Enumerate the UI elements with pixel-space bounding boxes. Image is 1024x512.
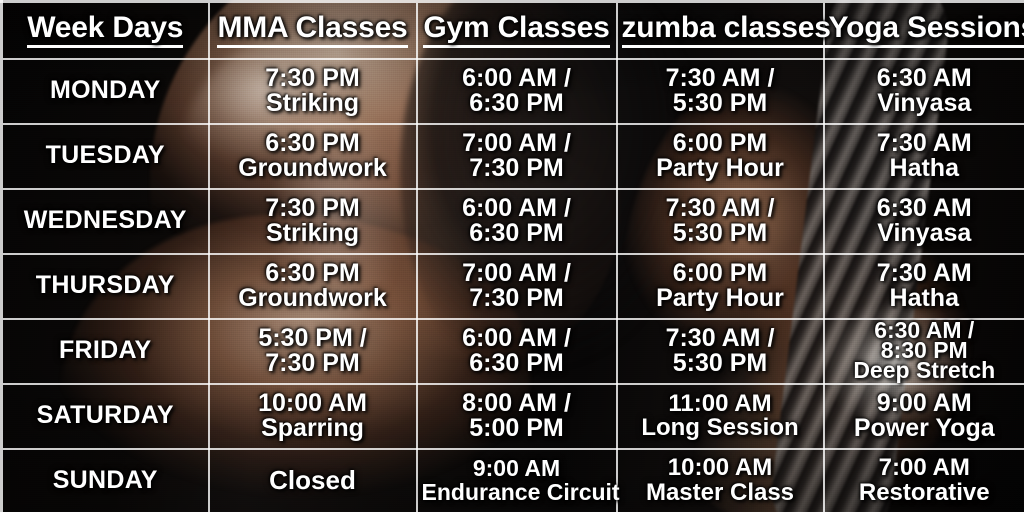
header-yoga-sessions: Yoga Sessions <box>824 2 1024 59</box>
cell-line: 7:00 AM / <box>422 131 612 157</box>
cell-line: 9:00 AM <box>829 391 1021 417</box>
day-label-friday: FRIDAY <box>2 319 209 384</box>
cell-line: Hatha <box>829 156 1021 182</box>
cell-yoga-sunday: 7:00 AMRestorative <box>824 449 1024 512</box>
cell-gym-saturday: 8:00 AM /5:00 PM <box>417 384 617 449</box>
header-yoga-sessions-label: Yoga Sessions <box>829 13 1024 48</box>
cell-yoga-saturday: 9:00 AMPower Yoga <box>824 384 1024 449</box>
cell-line: 7:30 PM <box>422 156 612 182</box>
day-label-tuesday: TUESDAY <box>2 124 209 189</box>
cell-zumba-saturday: 11:00 AMLong Session <box>617 384 824 449</box>
cell-line: Deep Stretch <box>829 361 1021 381</box>
cell-line: Party Hour <box>622 156 819 182</box>
cell-line: 6:30 AM <box>829 66 1021 92</box>
day-label-sunday: SUNDAY <box>2 449 209 512</box>
day-label-monday: MONDAY <box>2 59 209 124</box>
cell-line: 5:00 PM <box>422 416 612 442</box>
cell-mma-monday: 7:30 PMStriking <box>209 59 417 124</box>
cell-line: 7:00 AM / <box>422 261 612 287</box>
header-week-days: Week Days <box>2 2 209 59</box>
cell-line: Restorative <box>829 481 1021 505</box>
cell-line: 6:00 AM / <box>422 196 612 222</box>
cell-line: 5:30 PM <box>622 221 819 247</box>
cell-gym-tuesday: 7:00 AM /7:30 PM <box>417 124 617 189</box>
cell-gym-wednesday: 6:00 AM /6:30 PM <box>417 189 617 254</box>
cell-line: 7:30 AM / <box>622 326 819 352</box>
cell-line: Closed <box>214 467 412 494</box>
header-gym-classes: Gym Classes <box>417 2 617 59</box>
cell-zumba-thursday: 6:00 PMParty Hour <box>617 254 824 319</box>
day-label-wednesday: WEDNESDAY <box>2 189 209 254</box>
class-schedule-table: Week Days MMA Classes Gym Classes zumba … <box>0 0 1024 512</box>
cell-line: 7:30 AM <box>829 261 1021 287</box>
cell-line: 10:00 AM <box>214 391 412 417</box>
table-row: WEDNESDAY7:30 PMStriking6:00 AM /6:30 PM… <box>2 189 1024 254</box>
cell-line: Party Hour <box>622 286 819 312</box>
cell-line: Vinyasa <box>829 91 1021 117</box>
table-row: THURSDAY6:30 PMGroundwork7:00 AM /7:30 P… <box>2 254 1024 319</box>
cell-line: 11:00 AM <box>622 392 819 416</box>
cell-line: 7:30 PM <box>214 196 412 222</box>
cell-line: 7:30 AM <box>829 131 1021 157</box>
table-row: SATURDAY10:00 AMSparring8:00 AM /5:00 PM… <box>2 384 1024 449</box>
cell-line: 6:00 PM <box>622 131 819 157</box>
cell-line: 6:30 AM <box>829 196 1021 222</box>
cell-line: 9:00 AM <box>422 457 612 480</box>
cell-line: 7:30 PM <box>214 351 412 377</box>
cell-yoga-wednesday: 6:30 AMVinyasa <box>824 189 1024 254</box>
cell-line: Groundwork <box>214 286 412 312</box>
cell-line: 6:30 PM <box>422 221 612 247</box>
cell-line: 6:00 AM / <box>422 326 612 352</box>
table-row: TUESDAY6:30 PMGroundwork7:00 AM /7:30 PM… <box>2 124 1024 189</box>
cell-line: Groundwork <box>214 156 412 182</box>
cell-line: 6:30 PM <box>214 261 412 287</box>
cell-zumba-tuesday: 6:00 PMParty Hour <box>617 124 824 189</box>
cell-zumba-sunday: 10:00 AMMaster Class <box>617 449 824 512</box>
cell-line: 7:30 PM <box>214 66 412 92</box>
cell-line: Sparring <box>214 416 412 442</box>
cell-zumba-wednesday: 7:30 AM /5:30 PM <box>617 189 824 254</box>
cell-line: 5:30 PM <box>622 91 819 117</box>
header-gym-classes-label: Gym Classes <box>423 13 609 48</box>
cell-mma-thursday: 6:30 PMGroundwork <box>209 254 417 319</box>
header-week-days-label: Week Days <box>27 13 183 48</box>
cell-mma-wednesday: 7:30 PMStriking <box>209 189 417 254</box>
cell-mma-tuesday: 6:30 PMGroundwork <box>209 124 417 189</box>
header-mma-classes: MMA Classes <box>209 2 417 59</box>
cell-yoga-thursday: 7:30 AMHatha <box>824 254 1024 319</box>
cell-gym-friday: 6:00 AM /6:30 PM <box>417 319 617 384</box>
cell-line: Power Yoga <box>829 416 1021 442</box>
cell-line: Vinyasa <box>829 221 1021 247</box>
cell-mma-sunday: Closed <box>209 449 417 512</box>
table-body: MONDAY7:30 PMStriking6:00 AM /6:30 PM7:3… <box>2 59 1024 512</box>
cell-line: 7:30 PM <box>422 286 612 312</box>
cell-line: Striking <box>214 91 412 117</box>
cell-line: 7:30 AM / <box>622 196 819 222</box>
cell-line: 8:00 AM / <box>422 391 612 417</box>
cell-line: 5:30 PM <box>622 351 819 377</box>
cell-gym-thursday: 7:00 AM /7:30 PM <box>417 254 617 319</box>
cell-line: 5:30 PM / <box>214 326 412 352</box>
table-header: Week Days MMA Classes Gym Classes zumba … <box>2 2 1024 59</box>
cell-line: 7:30 AM / <box>622 66 819 92</box>
cell-line: 6:30 PM <box>422 351 612 377</box>
day-label-thursday: THURSDAY <box>2 254 209 319</box>
cell-yoga-tuesday: 7:30 AMHatha <box>824 124 1024 189</box>
cell-line: 6:30 PM <box>214 131 412 157</box>
cell-line: Hatha <box>829 286 1021 312</box>
cell-line: 6:00 AM / <box>422 66 612 92</box>
cell-line: 7:00 AM <box>829 456 1021 480</box>
cell-line: Endurance Circuit <box>422 481 612 504</box>
cell-line: Long Session <box>622 416 819 440</box>
cell-line: 10:00 AM <box>622 456 819 480</box>
table-row: FRIDAY5:30 PM /7:30 PM6:00 AM /6:30 PM7:… <box>2 319 1024 384</box>
cell-yoga-friday: 6:30 AM /8:30 PMDeep Stretch <box>824 319 1024 384</box>
cell-zumba-friday: 7:30 AM /5:30 PM <box>617 319 824 384</box>
day-label-saturday: SATURDAY <box>2 384 209 449</box>
table-row: MONDAY7:30 PMStriking6:00 AM /6:30 PM7:3… <box>2 59 1024 124</box>
cell-line: Striking <box>214 221 412 247</box>
cell-line: 6:00 PM <box>622 261 819 287</box>
cell-zumba-monday: 7:30 AM /5:30 PM <box>617 59 824 124</box>
cell-yoga-monday: 6:30 AMVinyasa <box>824 59 1024 124</box>
table-row: SUNDAYClosed9:00 AMEndurance Circuit10:0… <box>2 449 1024 512</box>
header-row: Week Days MMA Classes Gym Classes zumba … <box>2 2 1024 59</box>
header-zumba-classes: zumba classes <box>617 2 824 59</box>
cell-line: Master Class <box>622 481 819 505</box>
cell-gym-sunday: 9:00 AMEndurance Circuit <box>417 449 617 512</box>
header-zumba-classes-label: zumba classes <box>622 13 831 48</box>
cell-mma-saturday: 10:00 AMSparring <box>209 384 417 449</box>
cell-mma-friday: 5:30 PM /7:30 PM <box>209 319 417 384</box>
cell-gym-monday: 6:00 AM /6:30 PM <box>417 59 617 124</box>
header-mma-classes-label: MMA Classes <box>217 13 407 48</box>
schedule-grid: Week Days MMA Classes Gym Classes zumba … <box>0 0 1024 512</box>
cell-line: 6:30 PM <box>422 91 612 117</box>
